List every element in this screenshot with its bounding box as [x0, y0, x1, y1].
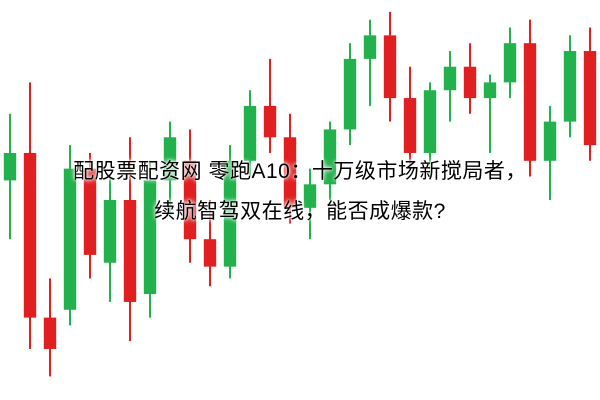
candle [564, 35, 576, 137]
candle-body [464, 67, 476, 98]
candle [464, 43, 476, 114]
candle-body [424, 90, 436, 153]
candle [484, 75, 496, 153]
candle-body [344, 59, 356, 130]
candle-body [444, 67, 456, 91]
candle-body [504, 43, 516, 82]
candle-body [204, 239, 216, 266]
overlay-headline: 配股票配资网 零跑A10：十万级市场新搅局者， 续航智驾双在线，能否成爆款? [0, 152, 600, 232]
candle [504, 28, 516, 99]
candle [384, 12, 396, 122]
candle-body [584, 51, 596, 145]
candle-body [384, 35, 396, 98]
candle-body [264, 106, 276, 137]
candle [584, 28, 596, 161]
candle [264, 59, 276, 153]
candle [444, 51, 456, 122]
candle [44, 278, 56, 376]
candle-body [524, 43, 536, 161]
candle [344, 43, 356, 145]
candle [364, 20, 376, 106]
candle-body [44, 318, 56, 349]
chart-stage: 配股票配资网 零跑A10：十万级市场新搅局者， 续航智驾双在线，能否成爆款? [0, 0, 600, 400]
candle-body [404, 98, 416, 153]
candle-body [564, 51, 576, 122]
candle-body [484, 82, 496, 98]
candle-body [364, 35, 376, 59]
